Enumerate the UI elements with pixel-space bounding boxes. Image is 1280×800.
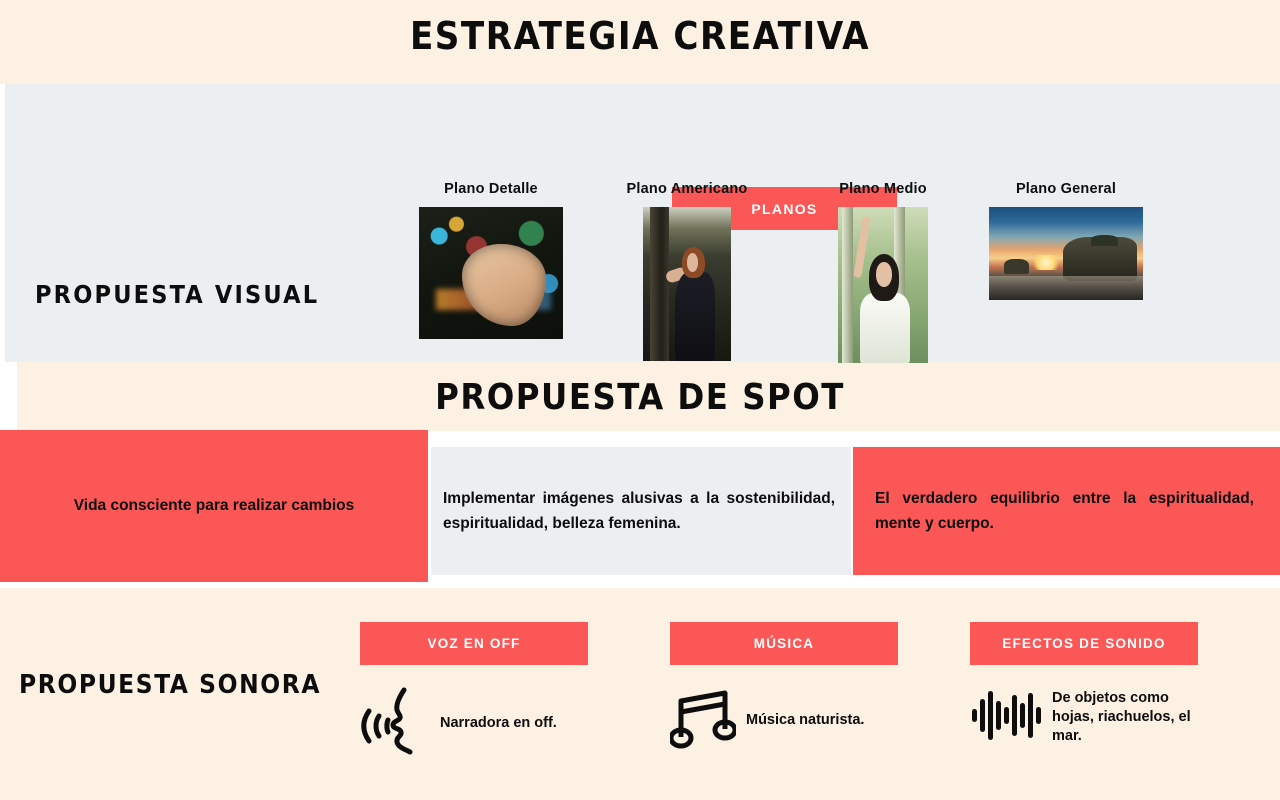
voz-en-off-button[interactable]: VOZ EN OFF bbox=[360, 622, 588, 665]
sound-column-efectos-de-sonido: EFECTOS DE SONIDO De objetos como hojas,… bbox=[970, 622, 1198, 748]
visual-proposal-panel: PROPUESTA VISUAL PLANOS Plano Detalle Pl… bbox=[5, 84, 1280, 362]
shot-label: Plano Medio bbox=[807, 181, 959, 197]
efectos-de-sonido-row: De objetos como hojas, riachuelos, el ma… bbox=[970, 687, 1198, 748]
spot-panel-images: Implementar imágenes alusivas a la soste… bbox=[431, 447, 851, 575]
plano-americano-image bbox=[643, 207, 731, 361]
efectos-de-sonido-description: De objetos como hojas, riachuelos, el ma… bbox=[1052, 689, 1198, 747]
plano-general-image bbox=[989, 207, 1143, 300]
spot-panel-text: Implementar imágenes alusivas a la soste… bbox=[431, 486, 851, 536]
shot-card-plano-americano[interactable]: Plano Americano bbox=[611, 181, 763, 361]
plano-detalle-image bbox=[419, 207, 563, 339]
music-note-icon bbox=[670, 687, 736, 754]
sound-column-musica: MÚSICA Música naturista. bbox=[670, 622, 898, 754]
audio-waveform-icon bbox=[970, 687, 1042, 748]
voz-en-off-description: Narradora en off. bbox=[440, 714, 557, 733]
spot-panel-concept: Vida consciente para realizar cambios bbox=[0, 430, 428, 582]
shot-card-plano-medio[interactable]: Plano Medio bbox=[807, 181, 959, 361]
speaking-head-waves-icon bbox=[360, 687, 430, 760]
sound-column-voz-en-off: VOZ EN OFF Narradora en off. bbox=[360, 622, 588, 760]
sound-proposal-label: PROPUESTA SONORA bbox=[19, 670, 321, 700]
musica-row: Música naturista. bbox=[670, 687, 898, 754]
shot-label: Plano Americano bbox=[611, 181, 763, 197]
musica-description: Música naturista. bbox=[746, 711, 864, 730]
visual-proposal-label: PROPUESTA VISUAL bbox=[35, 280, 319, 309]
shot-label: Plano Detalle bbox=[415, 181, 567, 197]
spot-panel-message: El verdadero equilibrio entre la espirit… bbox=[853, 447, 1280, 575]
efectos-de-sonido-button[interactable]: EFECTOS DE SONIDO bbox=[970, 622, 1198, 665]
plano-medio-image bbox=[838, 207, 928, 363]
musica-button[interactable]: MÚSICA bbox=[670, 622, 898, 665]
spot-panel-text: El verdadero equilibrio entre la espirit… bbox=[853, 486, 1280, 536]
spot-proposal-title: PROPUESTA DE SPOT bbox=[0, 377, 1280, 418]
shot-card-plano-general[interactable]: Plano General bbox=[990, 181, 1142, 341]
voz-en-off-row: Narradora en off. bbox=[360, 687, 588, 760]
shot-card-plano-detalle[interactable]: Plano Detalle bbox=[415, 181, 567, 341]
shot-label: Plano General bbox=[990, 181, 1142, 197]
page-title: ESTRATEGIA CREATIVA bbox=[0, 14, 1280, 58]
spot-panel-text: Vida consciente para realizar cambios bbox=[0, 495, 428, 517]
